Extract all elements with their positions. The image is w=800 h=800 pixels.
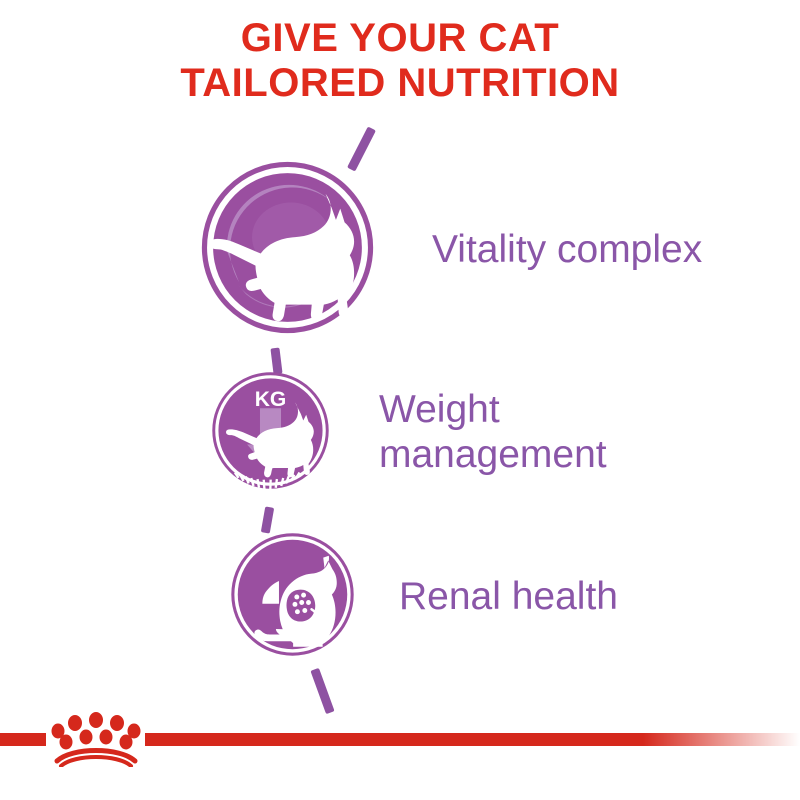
connector-dash-bottom [310,668,334,714]
poster-root: GIVE YOUR CAT TAILORED NUTRITION [0,0,800,800]
feature-label-weight-management: Weight management [379,388,607,478]
walking-cat-icon [201,161,374,339]
connector-dash-1-2 [270,348,282,375]
feature-label-vitality-complex: Vitality complex [432,228,702,273]
brand-bar-left [0,733,46,746]
weight-scale-cat-icon: KG [212,372,329,494]
sitting-cat-kidney-icon [231,533,354,661]
connector-dash-2-3 [261,506,274,533]
feature-row-renal-health: Renal health [231,533,618,661]
feature-label-renal-health: Renal health [399,575,618,620]
royal-canin-crown-logo [48,709,144,767]
kg-label: KG [255,388,287,411]
page-title: GIVE YOUR CAT TAILORED NUTRITION [0,16,800,106]
headline-line-2: TAILORED NUTRITION [0,61,800,106]
brand-bar-right [145,733,800,746]
feature-row-vitality-complex: Vitality complex [201,161,702,339]
feature-row-weight-management: KG [212,372,607,494]
headline-line-1: GIVE YOUR CAT [0,16,800,61]
